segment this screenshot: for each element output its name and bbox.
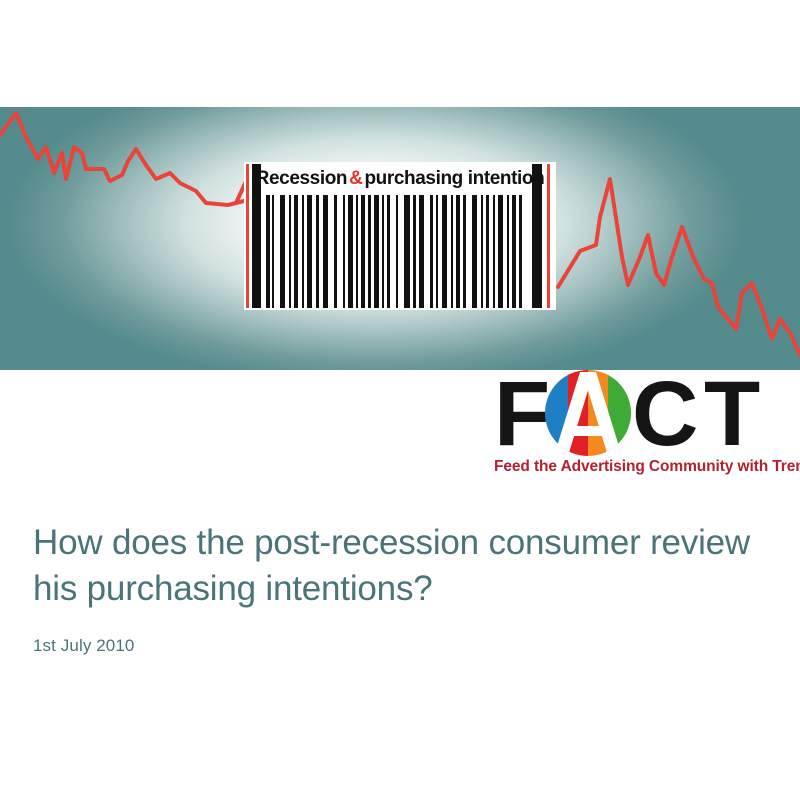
barcode-caption-ampersand: &: [347, 168, 364, 190]
fact-logo: F C T Feed the Advertising Community wit…: [492, 366, 792, 482]
fact-wordmark: F C T: [492, 366, 792, 458]
logo-letter-f: F: [494, 368, 548, 460]
barcode-caption: Recession & purchasing intention: [262, 166, 538, 192]
header-banner: Recession & purchasing intention: [0, 107, 800, 370]
barcode-graphic: Recession & purchasing intention: [244, 162, 556, 310]
barcode-guard-red-left: [246, 164, 249, 308]
title-block: How does the post-recession consumer rev…: [33, 520, 763, 656]
logo-letter-c: C: [632, 368, 696, 460]
barcode-caption-before: Recession: [256, 168, 347, 190]
slide-title: How does the post-recession consumer rev…: [33, 520, 763, 612]
trend-line-left: [0, 113, 244, 205]
logo-a-crossbar: [568, 426, 608, 436]
barcode-caption-after: purchasing intention: [364, 168, 544, 190]
slide-date: 1st July 2010: [33, 636, 763, 656]
logo-tagline: Feed the Advertising Community with Tren…: [494, 458, 800, 476]
logo-letter-t: T: [704, 368, 758, 460]
logo-letter-a-icon: [544, 370, 632, 456]
trend-line-right: [558, 179, 800, 355]
barcode-guard-red-right: [547, 164, 550, 308]
